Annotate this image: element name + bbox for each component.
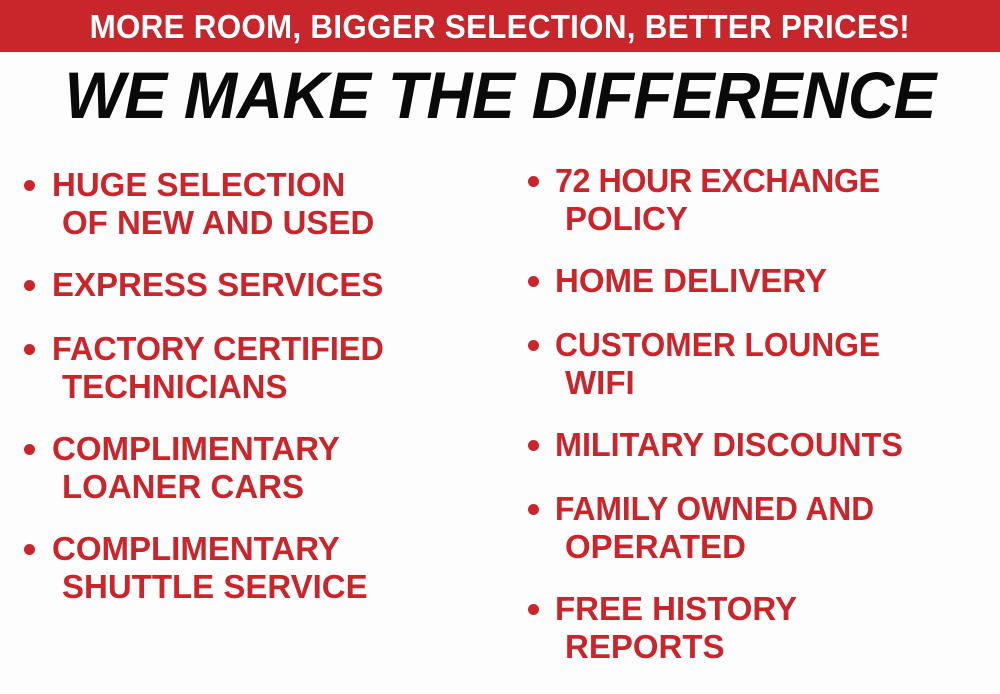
- list-item: 72 HOUR EXCHANGE POLICY: [555, 162, 886, 238]
- list-item: FACTORY CERTIFIED TECHNICIANS: [52, 330, 391, 406]
- headline-text: WE MAKE THE DIFFERENCE: [64, 62, 935, 128]
- list-item: FAMILY OWNED AND OPERATED: [555, 490, 887, 566]
- benefits-columns: HUGE SELECTION OF NEW AND USED EXPRESS S…: [0, 150, 1000, 694]
- bullet-dot-icon: [528, 340, 539, 351]
- bullet-dot-icon: [528, 604, 539, 615]
- top-banner-text: MORE ROOM, BIGGER SELECTION, BETTER PRIC…: [90, 10, 910, 43]
- list-item: COMPLIMENTARY LOANER CARS: [52, 430, 340, 506]
- benefits-column-right: 72 HOUR EXCHANGE POLICY HOME DELIVERY CU…: [500, 150, 1000, 694]
- list-item-line1: COMPLIMENTARY: [52, 530, 368, 568]
- list-item-line1: CUSTOMER LOUNGE: [555, 326, 880, 364]
- list-item-line2: SHUTTLE SERVICE: [52, 568, 368, 606]
- bullet-dot-icon: [528, 176, 539, 187]
- list-item: HUGE SELECTION OF NEW AND USED: [52, 166, 374, 242]
- list-item-line1: FACTORY CERTIFIED: [52, 330, 384, 368]
- list-item-line1: EXPRESS SERVICES: [52, 266, 383, 304]
- list-item-line2: REPORTS: [555, 628, 797, 666]
- list-item: CUSTOMER LOUNGE WIFI: [555, 326, 894, 402]
- bullet-dot-icon: [24, 280, 35, 291]
- list-item: HOME DELIVERY: [555, 262, 827, 300]
- list-item-line1: COMPLIMENTARY: [52, 430, 340, 468]
- list-item-line2: LOANER CARS: [52, 468, 340, 506]
- benefits-column-left: HUGE SELECTION OF NEW AND USED EXPRESS S…: [0, 150, 500, 694]
- list-item-line1: FREE HISTORY: [555, 590, 797, 628]
- list-item-line1: HOME DELIVERY: [555, 262, 827, 300]
- list-item: COMPLIMENTARY SHUTTLE SERVICE: [52, 530, 368, 606]
- list-item-line2: WIFI: [555, 364, 894, 402]
- list-item-line2: OF NEW AND USED: [52, 204, 374, 242]
- top-banner: MORE ROOM, BIGGER SELECTION, BETTER PRIC…: [0, 0, 1000, 52]
- bullet-dot-icon: [24, 444, 35, 455]
- bullet-dot-icon: [24, 544, 35, 555]
- headline: WE MAKE THE DIFFERENCE: [0, 62, 1000, 128]
- bullet-dot-icon: [24, 180, 35, 191]
- list-item-line2: TECHNICIANS: [52, 368, 391, 406]
- list-item-line1: 72 HOUR EXCHANGE: [555, 162, 880, 200]
- promo-poster: MORE ROOM, BIGGER SELECTION, BETTER PRIC…: [0, 0, 1000, 694]
- list-item-line2: OPERATED: [555, 528, 887, 566]
- list-item: FREE HISTORY REPORTS: [555, 590, 797, 666]
- list-item-line1: FAMILY OWNED AND: [555, 490, 874, 528]
- list-item-line1: HUGE SELECTION: [52, 166, 374, 204]
- bullet-dot-icon: [528, 440, 539, 451]
- list-item-line1: MILITARY DISCOUNTS: [555, 426, 903, 464]
- list-item: EXPRESS SERVICES: [52, 266, 383, 304]
- list-item-line2: POLICY: [555, 200, 886, 238]
- bullet-dot-icon: [24, 344, 35, 355]
- bullet-dot-icon: [528, 276, 539, 287]
- bullet-dot-icon: [528, 504, 539, 515]
- list-item: MILITARY DISCOUNTS: [555, 426, 910, 464]
